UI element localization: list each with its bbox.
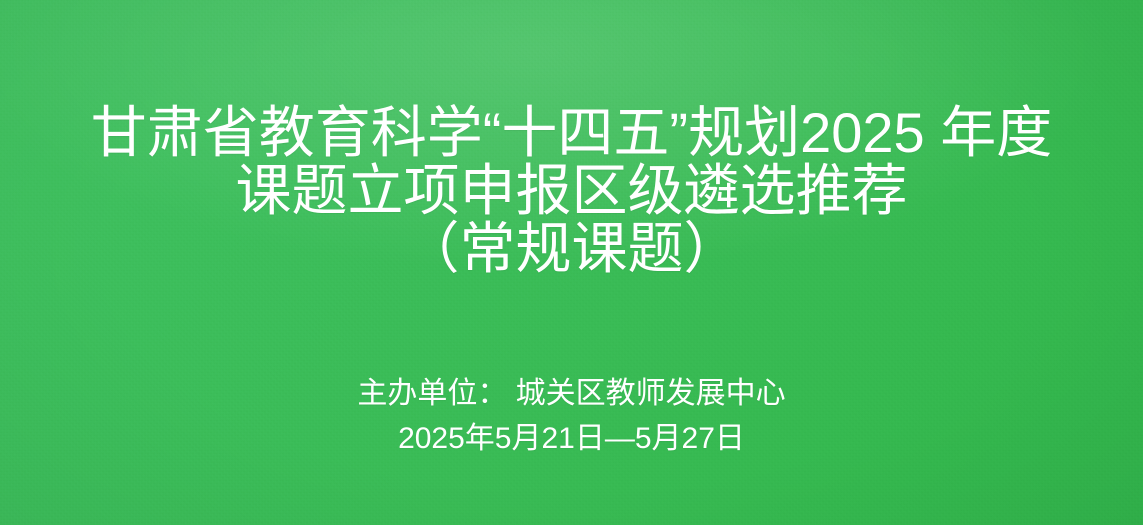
slide-content: 甘肃省教育科学“十四五”规划2025 年度 课题立项申报区级遴选推荐 （常规课题… [0,0,1143,525]
slide-title: 甘肃省教育科学“十四五”规划2025 年度 课题立项申报区级遴选推荐 （常规课题… [0,104,1143,278]
title-line-3: （常规课题） [24,220,1119,278]
title-line-2: 课题立项申报区级遴选推荐 [24,162,1119,220]
presentation-slide: 甘肃省教育科学“十四五”规划2025 年度 课题立项申报区级遴选推荐 （常规课题… [0,0,1143,525]
title-line-1: 甘肃省教育科学“十四五”规划2025 年度 [24,104,1119,162]
date-range-text: 2025年5月21日—5月27日 [24,416,1119,461]
slide-subtitle: 主办单位： 城关区教师发展中心 2025年5月21日—5月27日 [0,371,1143,461]
organizer-text: 主办单位： 城关区教师发展中心 [24,371,1119,416]
